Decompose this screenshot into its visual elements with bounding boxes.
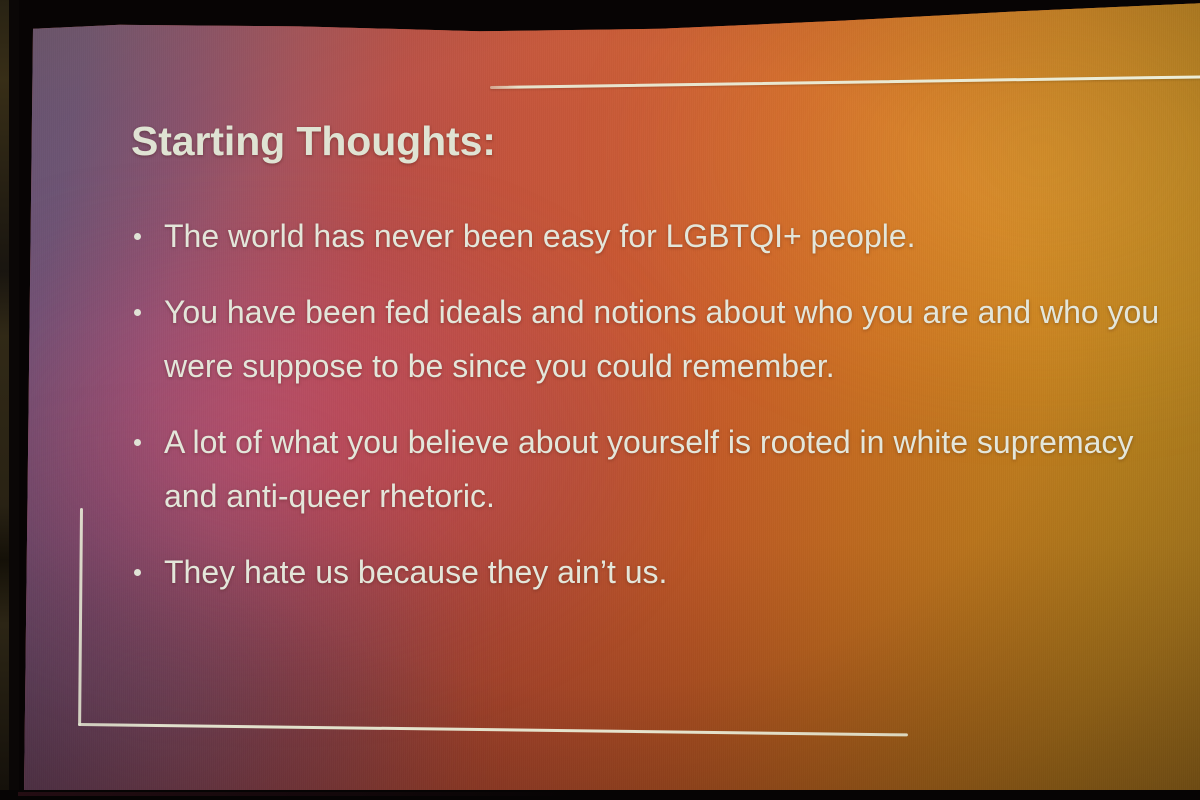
bullet-text: The world has never been easy for LGBTQI… <box>164 209 1168 263</box>
corner-bracket-horizontal <box>78 723 908 736</box>
bullet-dot-icon <box>134 439 141 446</box>
bullet-list: The world has never been easy for LGBTQI… <box>128 209 1168 599</box>
room-edge-strip <box>0 0 9 800</box>
bullet-item: You have been fed ideals and notions abo… <box>128 285 1168 393</box>
bullet-dot-icon <box>134 233 141 240</box>
top-rule-decoration <box>490 75 1200 89</box>
bullet-item: The world has never been easy for LGBTQI… <box>128 209 1168 263</box>
bullet-item: They hate us because they ain’t us. <box>128 545 1168 599</box>
bullet-item: A lot of what you believe about yourself… <box>128 415 1168 523</box>
room-edge-shadow <box>9 0 19 800</box>
slide-content: Starting Thoughts: The world has never b… <box>0 0 1200 800</box>
bullet-text: A lot of what you believe about yourself… <box>164 415 1168 523</box>
bullet-text: You have been fed ideals and notions abo… <box>164 285 1168 393</box>
room-floor-light-sliver <box>18 792 578 796</box>
bullet-dot-icon <box>134 309 141 316</box>
projected-slide-photo: Starting Thoughts: The world has never b… <box>0 0 1200 800</box>
bullet-text: They hate us because they ain’t us. <box>164 545 1168 599</box>
corner-bracket-vertical <box>78 508 83 726</box>
presentation-slide: Starting Thoughts: The world has never b… <box>0 0 1200 800</box>
slide-title: Starting Thoughts: <box>131 118 496 165</box>
bullet-dot-icon <box>134 569 141 576</box>
